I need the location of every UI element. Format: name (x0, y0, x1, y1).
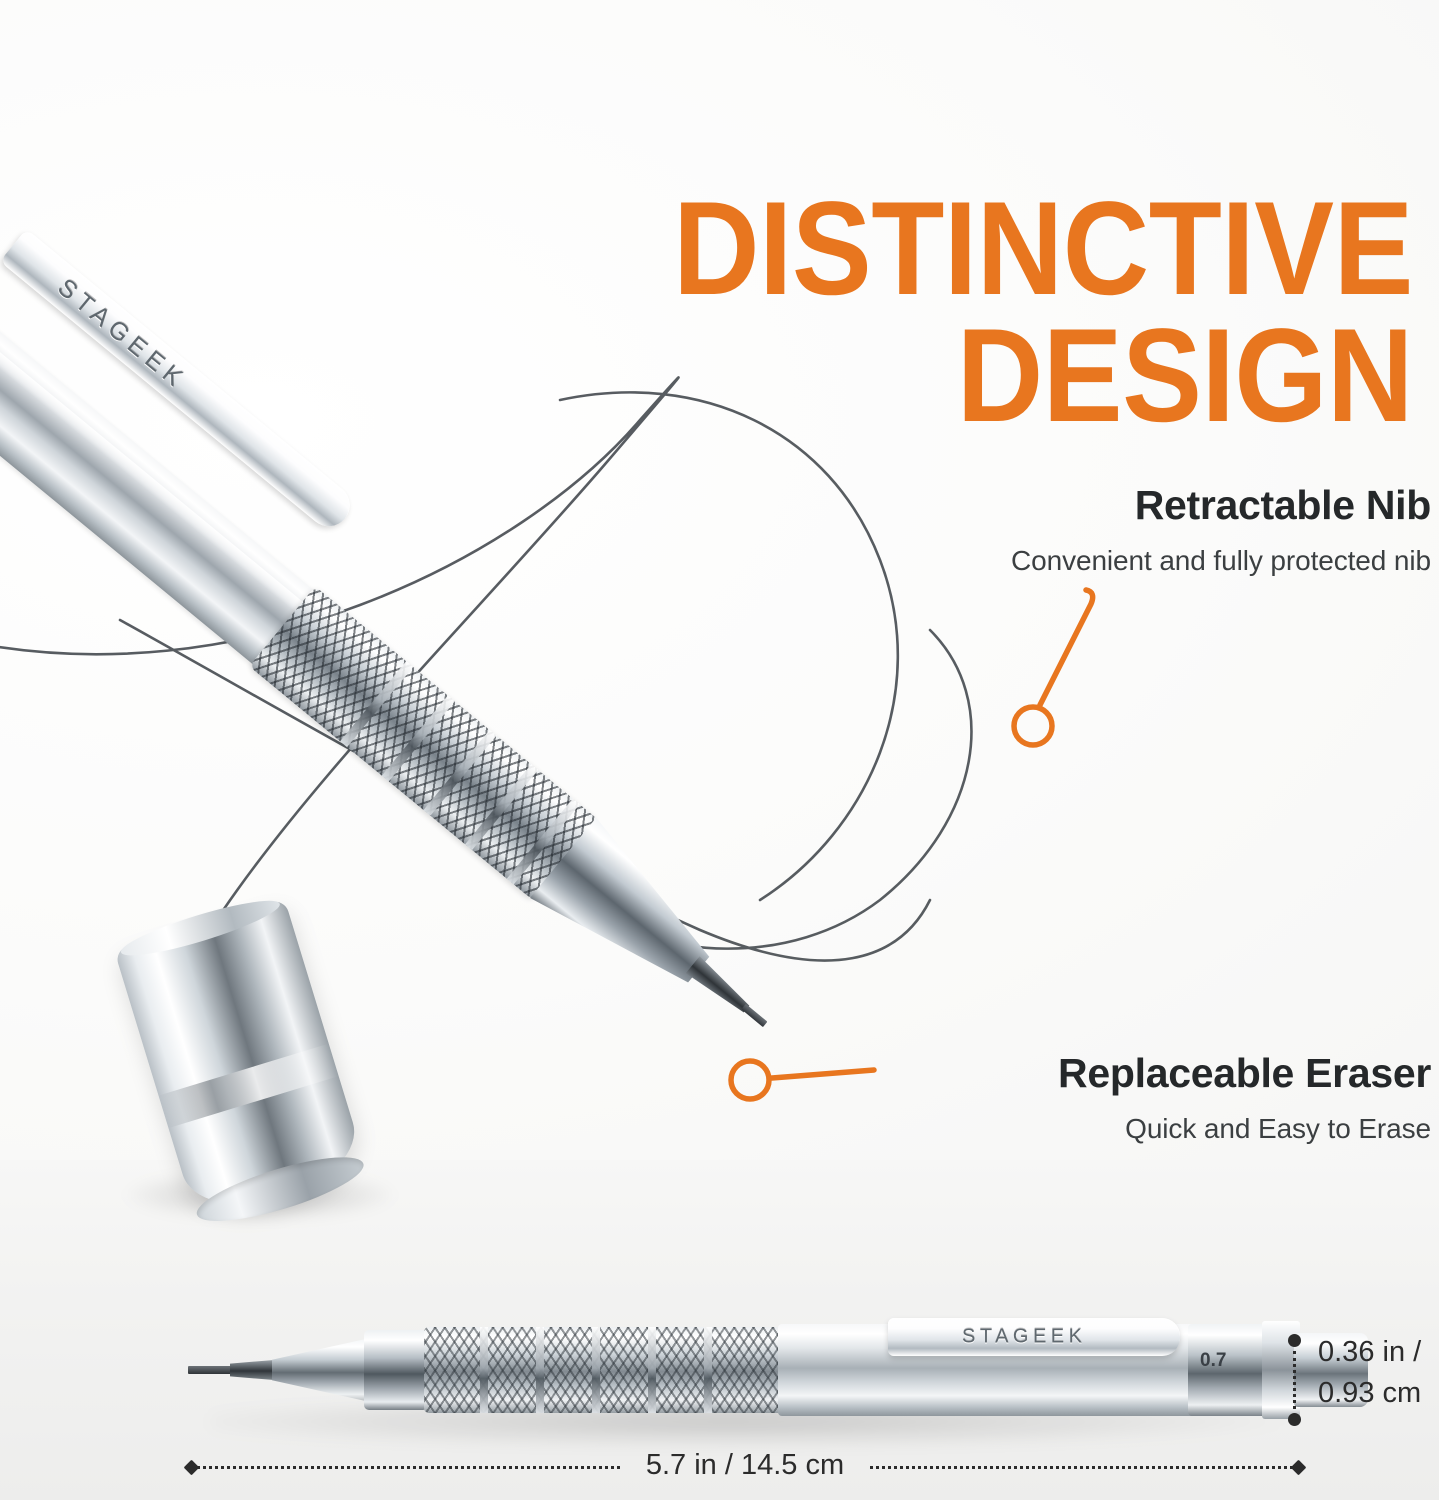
grip-ring (465, 764, 538, 850)
callout-subtitle: Quick and Easy to Erase (1058, 1113, 1431, 1145)
cap-notch (159, 1044, 339, 1129)
dimension-endpoint-right (1291, 1459, 1307, 1475)
diameter-dimension (1288, 1334, 1301, 1426)
dimension-line-vertical (1293, 1351, 1296, 1409)
flat-grip-ring (704, 1327, 712, 1413)
dimension-endpoint-left (184, 1459, 200, 1475)
dimension-endpoint-top (1288, 1334, 1301, 1347)
pencil-barrel (0, 125, 336, 682)
dimension-line-left (197, 1466, 620, 1469)
flat-grip-ring (592, 1327, 600, 1413)
grip-ring (340, 661, 413, 747)
callout-title: Retractable Nib (1011, 482, 1431, 529)
dimension-endpoint-bottom (1288, 1413, 1301, 1426)
grip-ring (423, 730, 496, 816)
flat-shoulder (364, 1330, 428, 1410)
callout-subtitle: Convenient and fully protected nib (1011, 545, 1431, 577)
callout-replaceable-eraser: Replaceable Eraser Quick and Easy to Era… (1058, 1050, 1431, 1145)
product-photography: 0.7 STAGEEK (0, 0, 1439, 1500)
dimension-line-right (870, 1466, 1293, 1469)
callout-retractable-nib: Retractable Nib Convenient and fully pro… (1011, 482, 1431, 577)
knurled-grip (249, 586, 599, 900)
flat-knurled-grip (424, 1327, 784, 1413)
flat-lead (188, 1366, 232, 1374)
length-label: 5.7 in / 14.5 cm (620, 1449, 870, 1482)
diameter-label: 0.36 in / 0.93 cm (1318, 1332, 1421, 1414)
pencil-lead (741, 1004, 767, 1027)
length-dimension: 5.7 in / 14.5 cm (186, 1455, 1304, 1479)
flat-nib-cone (272, 1338, 370, 1402)
cap-top (117, 891, 283, 964)
grip-ring (382, 695, 455, 781)
flat-grip-ring (648, 1327, 656, 1413)
flat-pocket-clip: STAGEEK (888, 1318, 1180, 1356)
flat-pencil-profile: STAGEEK 0.7 (188, 1316, 1298, 1424)
flat-brand-engraving: STAGEEK (962, 1326, 1087, 1349)
flat-grip-ring (536, 1327, 544, 1413)
flat-lead-grade: 0.7 (1200, 1350, 1226, 1372)
callout-title: Replaceable Eraser (1058, 1050, 1431, 1097)
flat-nib-tip (230, 1360, 274, 1380)
infographic-canvas: DISTINCTIVE DESIGN 0.7 STAGEEK (0, 0, 1439, 1500)
brand-engraving: STAGEEK (52, 273, 193, 396)
flat-grip-ring (480, 1327, 488, 1413)
